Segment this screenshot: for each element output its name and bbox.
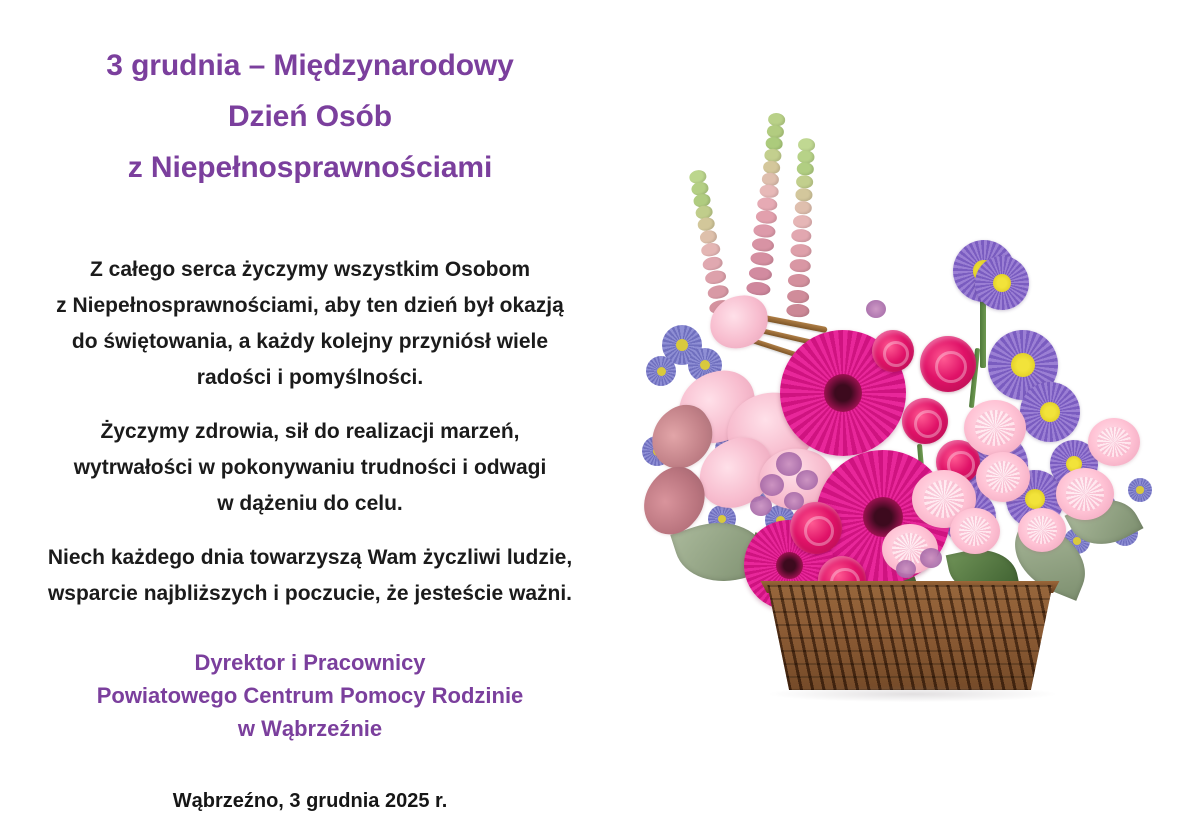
text-column: 3 grudnia – Międzynarodowy Dzień Osób z … [0,0,620,835]
paragraph-2-line-1: Życzymy zdrowia, sił do realizacji marze… [0,414,620,450]
pink-rose-icon [790,502,842,554]
small-aster-icon [646,356,676,386]
pink-carnation-icon [964,400,1026,456]
paragraph-2-line-2: wytrwałości w pokonywaniu trudności i od… [0,450,620,486]
paragraph-1: Z całego serca życzymy wszystkim Osobom … [0,252,620,396]
pink-rose-icon [872,330,914,372]
snapdragon-spike-icon [748,112,786,303]
filler-bloom-icon [750,496,772,516]
pink-carnation-icon [1018,508,1066,552]
signature-block: Dyrektor i Pracownicy Powiatowego Centru… [0,646,620,745]
bouquet-illustration [620,0,1200,835]
pink-rose-icon [902,398,948,444]
filler-bloom-icon [896,560,916,578]
pink-carnation-icon [1088,418,1140,466]
paragraph-2: Życzymy zdrowia, sił do realizacji marze… [0,414,620,522]
paragraph-3-line-1: Niech każdego dnia towarzyszą Wam życzli… [0,540,620,576]
filler-bloom-icon [784,492,804,510]
message-body: Z całego serca życzymy wszystkim Osobom … [0,252,620,630]
flower-basket-photo [620,0,1200,835]
filler-bloom-icon [920,548,942,568]
signature-line-1: Dyrektor i Pracownicy [0,646,620,679]
pink-carnation-icon [976,452,1030,502]
snapdragon-spike-icon [788,138,815,319]
paragraph-1-line-3: do świętowania, a każdy kolejny przyniós… [0,324,620,360]
paragraph-1-line-2: z Niepełnosprawnościami, aby ten dzień b… [0,288,620,324]
signature-line-3: w Wąbrzeźnie [0,712,620,745]
pink-rose-icon [920,336,976,392]
title-line-3: z Niepełnosprawnościami [0,142,620,193]
datestamp: Wąbrzeźno, 3 grudnia 2025 r. [0,790,620,813]
basket-shadow [770,686,1055,702]
title-line-1: 3 grudnia – Międzynarodowy [0,40,620,91]
small-aster-icon [1128,478,1152,502]
purple-aster-icon [1020,382,1080,442]
page-title: 3 grudnia – Międzynarodowy Dzień Osób z … [0,40,620,193]
filler-bloom-icon [866,300,886,318]
pink-carnation-icon [1056,468,1114,520]
paragraph-2-line-3: w dążeniu do celu. [0,486,620,522]
filler-bloom-icon [760,474,784,496]
wicker-basket [755,585,1065,690]
paragraph-3: Niech każdego dnia towarzyszą Wam życzli… [0,540,620,612]
pink-carnation-icon [950,508,1000,554]
paragraph-3-line-2: wsparcie najbliższych i poczucie, że jes… [0,576,620,612]
basket-weave-texture [755,585,1065,690]
paragraph-1-line-4: radości i pomyślności. [0,360,620,396]
greeting-card: 3 grudnia – Międzynarodowy Dzień Osób z … [0,0,1200,835]
filler-bloom-icon [796,470,818,490]
paragraph-1-line-1: Z całego serca życzymy wszystkim Osobom [0,252,620,288]
purple-aster-icon [975,256,1029,310]
signature-line-2: Powiatowego Centrum Pomocy Rodzinie [0,679,620,712]
title-line-2: Dzień Osób [0,91,620,142]
